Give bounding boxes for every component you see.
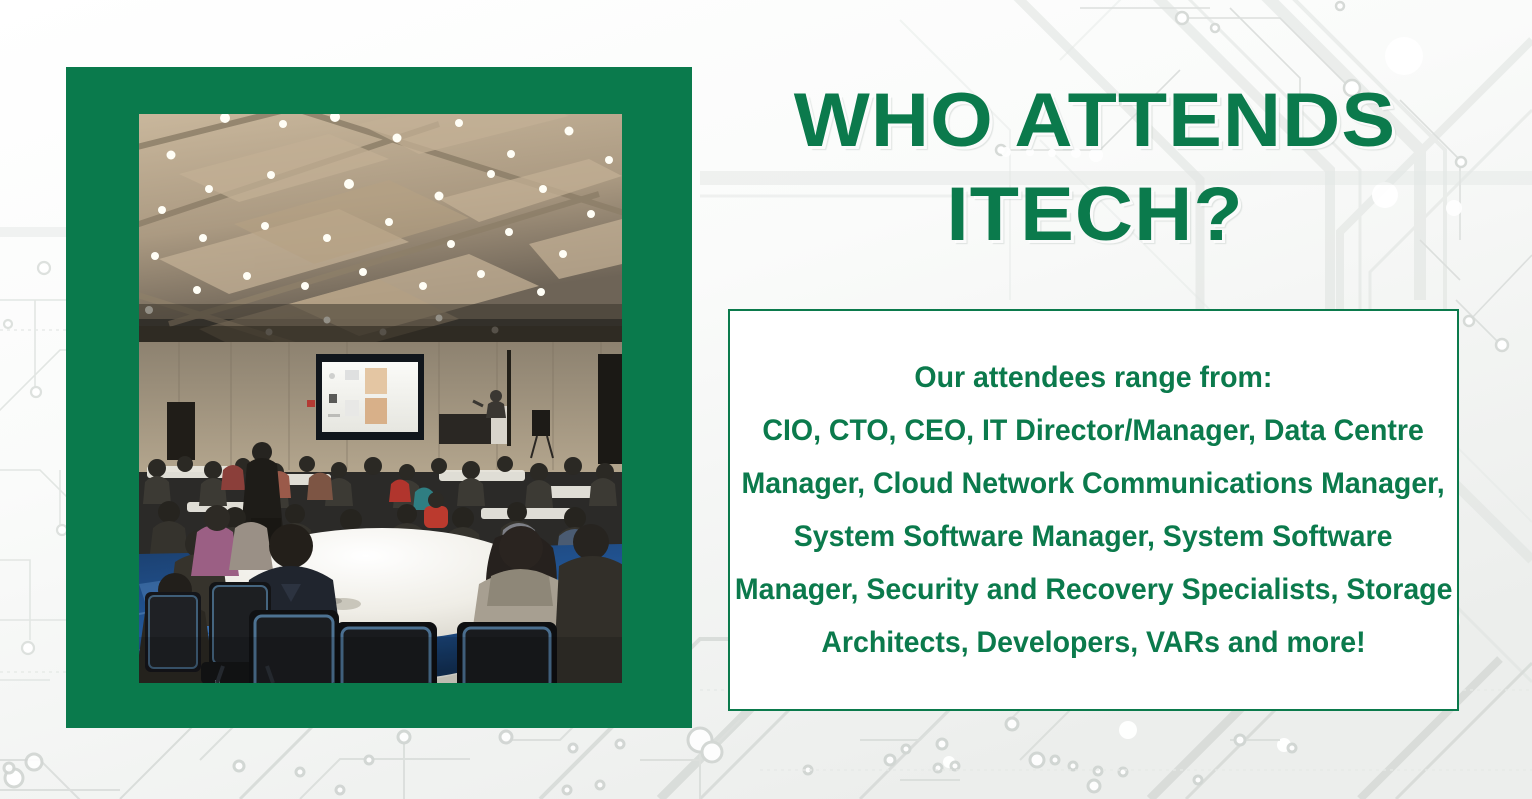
attendees-lead-line: Our attendees range from: xyxy=(915,351,1273,404)
slide-canvas: WHO ATTENDS ITECH? Our attendees range f… xyxy=(0,0,1532,799)
attendees-line-5: Architects, Developers, VARs and more! xyxy=(821,616,1365,669)
attendees-line-2: Manager, Cloud Network Communications Ma… xyxy=(742,457,1445,510)
conference-audience-photo xyxy=(139,114,622,683)
attendees-line-1: CIO, CTO, CEO, IT Director/Manager, Data… xyxy=(763,404,1424,457)
attendees-line-4: Manager, Security and Recovery Specialis… xyxy=(735,563,1453,616)
photo-frame xyxy=(66,67,692,728)
attendees-line-3: System Software Manager, System Software xyxy=(794,510,1393,563)
page-title: WHO ATTENDS ITECH? xyxy=(676,74,1513,262)
attendees-text-box: Our attendees range from: CIO, CTO, CEO,… xyxy=(728,309,1459,711)
